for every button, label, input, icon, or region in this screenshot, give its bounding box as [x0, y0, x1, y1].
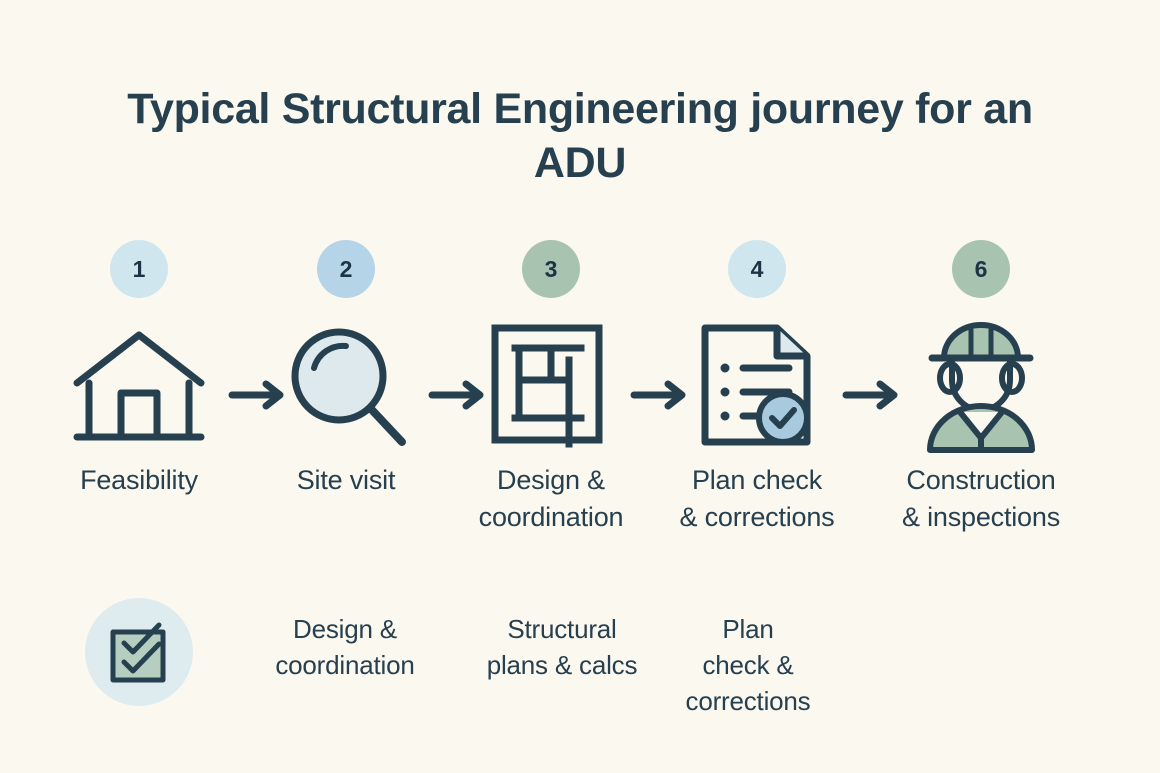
bottom-item-checkbox[interactable] — [34, 598, 244, 706]
page-title: Typical Structural Engineering journey f… — [80, 82, 1080, 190]
bottom-item-structural-plans: Structural plans & calcs — [457, 598, 667, 684]
bottom-item-plan-check: Plan check & corrections — [643, 598, 853, 720]
step-2-number: 2 — [340, 256, 353, 283]
step-1-label: Feasibility — [34, 462, 244, 499]
step-1-feasibility[interactable]: 1 Feasibility — [34, 240, 244, 499]
bottom-item-design-coordination: Design & coordination — [240, 598, 450, 684]
step-4-number: 4 — [751, 256, 764, 283]
step-4-plan-check[interactable]: 4 — [652, 240, 862, 537]
house-icon — [34, 316, 244, 456]
step-6-construction[interactable]: 6 — [876, 240, 1086, 537]
step-2-site-visit[interactable]: 2 Site visit — [241, 240, 451, 499]
magnifier-icon — [241, 316, 451, 456]
document-check-icon — [652, 316, 862, 456]
checkbox-checked-icon — [85, 598, 193, 706]
blueprint-icon — [446, 316, 656, 456]
step-2-label: Site visit — [241, 462, 451, 499]
infographic-canvas: Typical Structural Engineering journey f… — [0, 0, 1160, 773]
step-4-badge: 4 — [728, 240, 786, 298]
step-3-design-coordination[interactable]: 3 Design & coordination — [446, 240, 656, 537]
step-3-label: Design & coordination — [446, 462, 656, 537]
construction-worker-icon — [876, 316, 1086, 456]
step-2-badge: 2 — [317, 240, 375, 298]
step-6-label: Construction & inspections — [876, 462, 1086, 537]
step-6-number: 6 — [975, 256, 988, 283]
step-1-badge: 1 — [110, 240, 168, 298]
step-3-badge: 3 — [522, 240, 580, 298]
step-1-number: 1 — [133, 256, 146, 283]
step-4-label: Plan check & corrections — [652, 462, 862, 537]
step-3-number: 3 — [545, 256, 558, 283]
step-6-badge: 6 — [952, 240, 1010, 298]
